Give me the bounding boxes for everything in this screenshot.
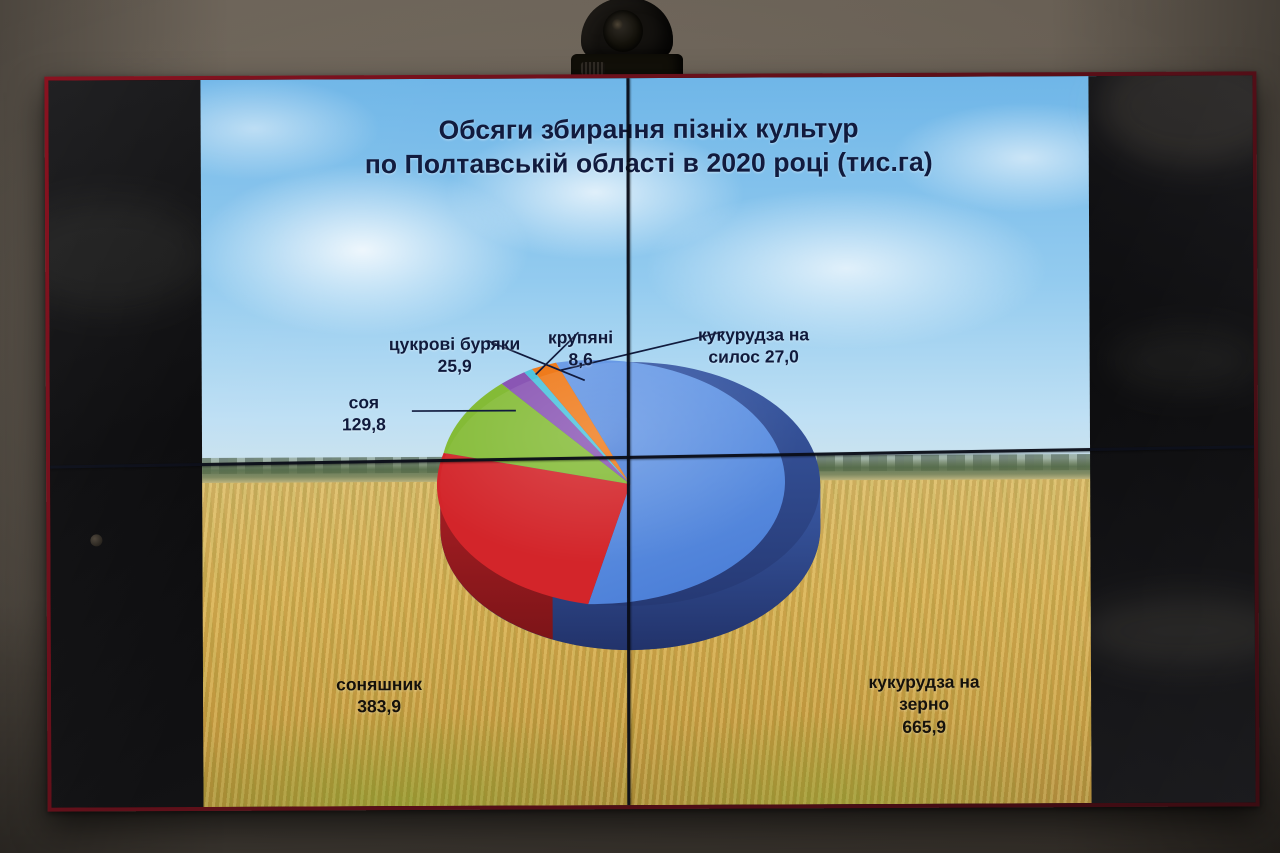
slide-title-line-1: Обсяги збирання пізніх культур [201,110,1097,148]
label-kukurudza-sylos: кукурудза на силос 27,0 [653,323,853,369]
video-wall-frame: Обсяги збирання пізніх культур по Полтав… [44,71,1259,811]
screen-glare-low [1110,330,1256,391]
video-wall-screen: Обсяги збирання пізніх культур по Полтав… [48,75,1255,807]
screen-glare-top [1098,75,1255,166]
letterbox-left [48,80,203,808]
label-sonyashnyk: соняшник 383,9 [279,673,479,719]
camera-ir-array-icon [581,62,605,75]
slide-title: Обсяги збирання пізніх культур по Полтав… [201,110,1097,183]
label-krupyani: крупяні 8,6 [505,326,655,371]
label-soya: соя 129,8 [310,391,418,436]
presentation-slide: Обсяги збирання пізніх культур по Полтав… [200,76,1099,807]
room-scene: Обсяги збирання пізніх культур по Полтав… [0,0,1280,853]
wall-mount-screw-icon [90,534,102,546]
camera-lens-icon [603,10,643,52]
screen-glare-mid [1081,595,1256,666]
label-kukurudza-zerno: кукурудза на зерно 665,9 [829,670,1019,738]
pie-top-sheen [440,361,821,607]
screen-glare [48,200,209,311]
slide-title-line-2: по Полтавській області в 2020 році (тис.… [201,144,1097,182]
letterbox-right [1088,75,1255,803]
